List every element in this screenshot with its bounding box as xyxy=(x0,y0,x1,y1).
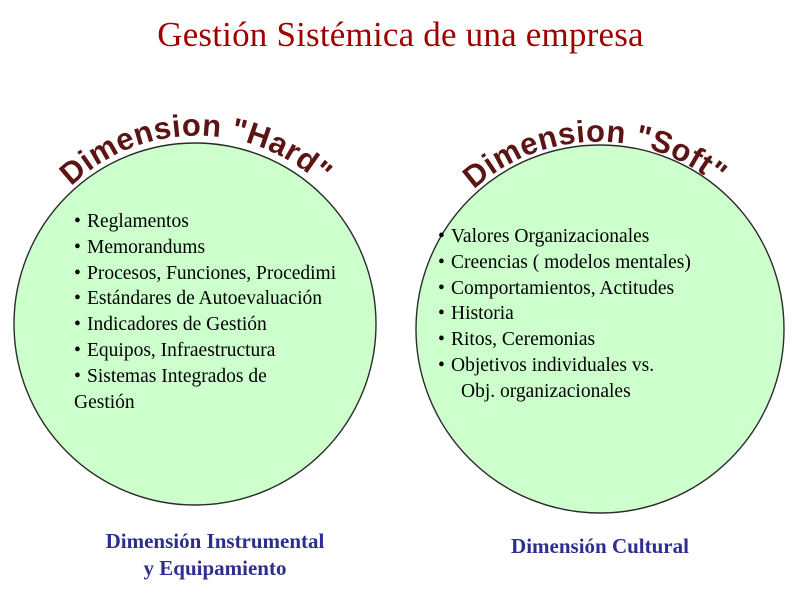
list-item: •Valores Organizacionales xyxy=(438,224,758,250)
bullet-icon: • xyxy=(438,327,451,353)
bullet-icon: • xyxy=(74,235,87,261)
list-item-label: Objetivos individuales vs. xyxy=(451,355,654,376)
caption-soft-label: Dimensión Cultural xyxy=(511,534,689,558)
bullet-icon: • xyxy=(438,353,451,379)
list-item-continuation: Gestión xyxy=(74,390,374,416)
bullet-icon: • xyxy=(74,364,87,390)
list-item: •Reglamentos xyxy=(74,209,374,235)
caption-soft: Dimensión Cultural xyxy=(430,533,770,560)
bullet-icon: • xyxy=(438,276,451,302)
list-item: •Equipos, Infraestructura xyxy=(74,338,374,364)
list-item: •Sistemas Integrados de xyxy=(74,364,374,390)
bullet-icon: • xyxy=(74,209,87,235)
list-item-label: Valores Organizacionales xyxy=(451,226,649,247)
caption-hard-line2: y Equipamiento xyxy=(144,556,287,580)
list-item-label: Procesos, Funciones, Procedimi xyxy=(87,263,336,284)
bullet-icon: • xyxy=(438,224,451,250)
bullet-icon: • xyxy=(438,301,451,327)
slide-canvas: Gestión Sistémica de una empresa Dimensi… xyxy=(0,0,801,605)
list-item-continuation: Obj. organizacionales xyxy=(438,379,758,405)
list-item-label: Ritos, Ceremonias xyxy=(451,329,595,350)
list-item-label: Reglamentos xyxy=(87,211,189,232)
list-item: •Creencias ( modelos mentales) xyxy=(438,250,758,276)
list-item: •Objetivos individuales vs. xyxy=(438,353,758,379)
list-item: •Memorandums xyxy=(74,235,374,261)
list-item: •Comportamientos, Actitudes xyxy=(438,276,758,302)
caption-hard: Dimensión Instrumental y Equipamiento xyxy=(40,528,390,582)
list-item-label: Estándares de Autoevaluación xyxy=(87,288,322,309)
list-item: •Historia xyxy=(438,301,758,327)
list-item-label: Indicadores de Gestión xyxy=(87,314,267,335)
list-item-label: Creencias ( modelos mentales) xyxy=(451,252,691,273)
list-soft: •Valores Organizacionales •Creencias ( m… xyxy=(438,224,758,405)
list-item-label: Historia xyxy=(451,303,514,324)
list-item: •Ritos, Ceremonias xyxy=(438,327,758,353)
list-item-label: Comportamientos, Actitudes xyxy=(451,278,674,299)
caption-hard-line1: Dimensión Instrumental xyxy=(106,529,325,553)
bullet-icon: • xyxy=(74,261,87,287)
bullet-icon: • xyxy=(438,250,451,276)
bullet-icon: • xyxy=(74,286,87,312)
bullet-icon: • xyxy=(74,338,87,364)
list-hard: •Reglamentos •Memorandums •Procesos, Fun… xyxy=(74,209,374,415)
list-item: •Procesos, Funciones, Procedimi xyxy=(74,261,374,287)
list-item-label: Equipos, Infraestructura xyxy=(87,340,275,361)
bullet-icon: • xyxy=(74,312,87,338)
list-item: •Indicadores de Gestión xyxy=(74,312,374,338)
list-item-label: Sistemas Integrados de xyxy=(87,366,267,387)
list-item: •Estándares de Autoevaluación xyxy=(74,286,374,312)
list-item-label: Memorandums xyxy=(87,237,205,258)
